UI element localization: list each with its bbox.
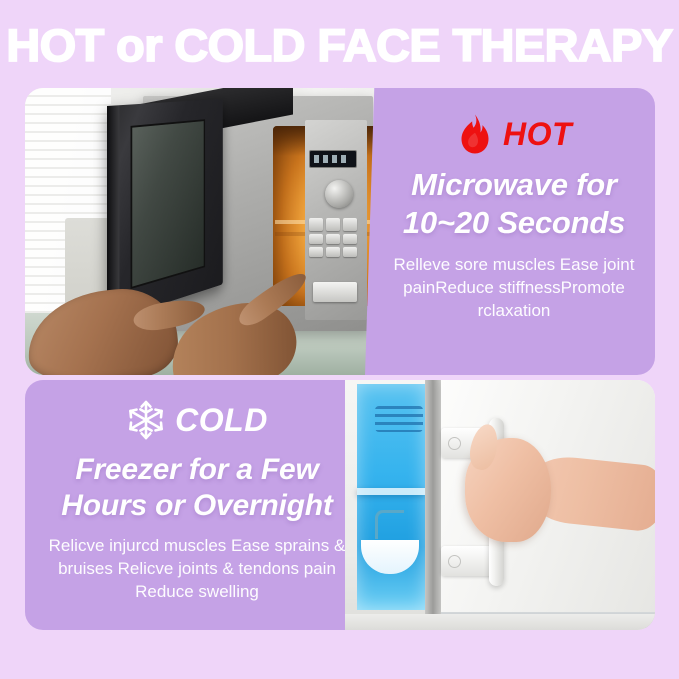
fridge-shelf — [357, 488, 425, 495]
fridge-base — [345, 614, 655, 630]
hot-text-panel: HOT Microwave for 10~20 Seconds Relleve … — [365, 88, 655, 375]
microwave-button[interactable] — [343, 247, 357, 257]
cold-badge-label: COLD — [175, 404, 268, 436]
hot-badge: HOT — [391, 110, 637, 158]
fridge-rack — [375, 510, 404, 539]
infographic-root: HOT or COLD FACE THERAPY — [0, 0, 679, 679]
microwave-button[interactable] — [343, 234, 357, 244]
cold-heading-line1: Freezer for a Few — [39, 452, 355, 488]
microwave-knob[interactable] — [325, 180, 353, 208]
microwave-door-glass — [131, 119, 206, 289]
microwave-button[interactable] — [309, 218, 323, 231]
page-title: HOT or COLD FACE THERAPY — [0, 20, 679, 72]
cold-heading-line2: Hours or Overnight — [39, 488, 355, 524]
microwave-photo — [25, 88, 377, 375]
cold-badge: COLD — [39, 396, 355, 444]
microwave-button[interactable] — [326, 234, 340, 244]
hot-heading-line2: 10~20 Seconds — [391, 204, 637, 242]
flame-icon — [456, 113, 494, 155]
fridge-interior — [357, 384, 425, 610]
microwave-control-panel — [305, 120, 367, 320]
microwave-button[interactable] — [309, 234, 323, 244]
fridge-wave-graphic — [375, 406, 423, 432]
hot-row: HOT Microwave for 10~20 Seconds Relleve … — [0, 88, 679, 375]
cold-row: COLD Freezer for a Few Hours or Overnigh… — [0, 380, 679, 630]
cold-body-text: Relicve injurcd muscles Ease sprains & b… — [39, 534, 355, 603]
fridge-door-gap — [425, 380, 441, 624]
microwave-button[interactable] — [326, 218, 340, 231]
hot-heading-line1: Microwave for — [391, 166, 637, 204]
cold-text-panel: COLD Freezer for a Few Hours or Overnigh… — [25, 380, 385, 630]
microwave-display — [309, 150, 357, 168]
microwave-start-button[interactable] — [313, 282, 357, 302]
snowflake-icon — [126, 399, 166, 441]
microwave-button[interactable] — [343, 218, 357, 231]
refrigerator-photo — [345, 380, 655, 630]
microwave-button-grid[interactable] — [309, 218, 357, 257]
hot-body-text: Relleve sore muscles Ease joint painRedu… — [391, 253, 637, 322]
microwave-button[interactable] — [309, 247, 323, 257]
microwave-button[interactable] — [326, 247, 340, 257]
hot-badge-label: HOT — [503, 118, 572, 150]
